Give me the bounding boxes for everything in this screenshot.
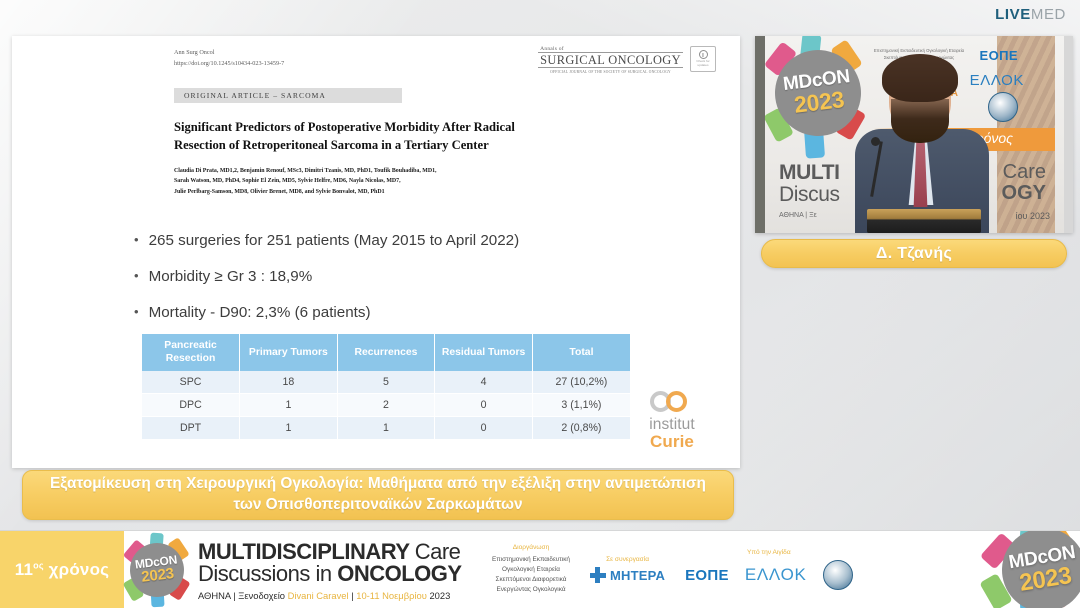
table-cell: 5 bbox=[337, 371, 435, 394]
footer-venue-hotel: Divani Caravel bbox=[288, 590, 349, 601]
sponsor-group-collaboration: Σε συνεργασία ΜΗΤΕΡΑ bbox=[590, 556, 665, 583]
video-letterbox-left bbox=[755, 36, 765, 233]
footer-year-label: 11ος χρόνος bbox=[15, 560, 109, 580]
backdrop-date-text: ίου 2023 bbox=[1016, 211, 1050, 221]
footer-year-number: 11 bbox=[15, 560, 33, 579]
footer-mdcon-logo: MDcON 2023 bbox=[124, 531, 190, 608]
article-type-band: ORIGINAL ARTICLE – SARCOMA bbox=[174, 88, 402, 103]
list-item: • Mortality - D90: 2,3% (6 patients) bbox=[134, 304, 519, 322]
podium bbox=[867, 209, 981, 233]
footer-year-block: 11ος χρόνος bbox=[0, 531, 124, 608]
authors-line-2: Sarah Watson, MD, PhD4, Sophie El Zein, … bbox=[174, 176, 574, 187]
table-row: SPC 18 5 4 27 (10,2%) bbox=[142, 371, 630, 394]
footer-sponsors: Διοργάνωση Επιστημονική Εκπαιδευτική Ογκ… bbox=[480, 531, 930, 608]
curie-rings-icon bbox=[626, 389, 718, 415]
livemed-logo: LIVEMED bbox=[995, 6, 1066, 23]
doi-url: https://doi.org/10.1245/s10434-023-13459… bbox=[174, 59, 284, 70]
eope-logo: ΕΟΠΕ bbox=[685, 567, 729, 584]
sponsor-group-auspices: Υπό την Αιγίδα ΕΟΠΕ ΕΛΛΟΚ bbox=[685, 549, 852, 590]
paper-doi: Ann Surg Oncol https://doi.org/10.1245/s… bbox=[174, 46, 284, 69]
paper-title: Significant Predictors of Postoperative … bbox=[174, 119, 549, 155]
microphone-head-icon bbox=[871, 137, 880, 146]
column-header: Primary Tumors bbox=[240, 334, 338, 371]
paper-header: Ann Surg Oncol https://doi.org/10.1245/s… bbox=[24, 46, 728, 198]
bullet-dot-icon: • bbox=[134, 304, 139, 320]
table-cell: 18 bbox=[240, 371, 338, 394]
slide-bullet-list: • 265 surgeries for 251 patients (May 20… bbox=[134, 232, 519, 323]
footer-title-line-2: Discussions in ONCOLOGY bbox=[198, 563, 480, 586]
footer-title-line-1: MULTIDISCIPLINARY Care bbox=[198, 541, 480, 563]
footer-venue-city: ΑΘΗΝΑ | Ξενοδοχείο bbox=[198, 590, 288, 601]
backdrop-mdcon-year: 2023 bbox=[793, 87, 846, 117]
list-item: • 265 surgeries for 251 patients (May 20… bbox=[134, 232, 519, 250]
column-header: Recurrences bbox=[337, 334, 435, 371]
article-type-label: ORIGINAL ARTICLE – SARCOMA bbox=[184, 91, 326, 100]
bullet-text: Mortality - D90: 2,3% (6 patients) bbox=[149, 304, 371, 322]
footer-venue-year: 2023 bbox=[429, 590, 450, 601]
table-header-row: Pancreatic Resection Primary Tumors Recu… bbox=[142, 334, 630, 371]
table-cell: DPT bbox=[142, 417, 240, 440]
table-cell: 1 bbox=[240, 417, 338, 440]
table-cell: 2 (0,8%) bbox=[532, 417, 630, 440]
footer-badge-year: 2023 bbox=[141, 566, 175, 586]
footer-title-care: Care bbox=[415, 539, 461, 564]
pancreatic-resection-table: Pancreatic Resection Primary Tumors Recu… bbox=[142, 334, 630, 440]
table-cell: 2 bbox=[337, 394, 435, 417]
speaker-name: Δ. Τζανής bbox=[876, 245, 952, 263]
sponsor-group-organizer: Διοργάνωση Επιστημονική Εκπαιδευτική Ογκ… bbox=[492, 544, 570, 595]
speaker-name-plate: Δ. Τζανής bbox=[761, 239, 1067, 268]
column-header: Residual Tumors bbox=[435, 334, 533, 371]
table-row: DPC 1 2 0 3 (1,1%) bbox=[142, 394, 630, 417]
footer-title-multidisciplinary: MULTIDISCIPLINARY bbox=[198, 539, 415, 564]
check-for-updates-icon: Check for updates bbox=[690, 46, 716, 72]
backdrop-care-line1: Care bbox=[1002, 162, 1046, 183]
livemed-live-text: LIVE bbox=[995, 6, 1031, 23]
journal-subtitle: OFFICIAL JOURNAL OF THE SOCIETY OF SURGI… bbox=[538, 70, 683, 74]
list-item: • Morbidity ≥ Gr 3 : 18,9% bbox=[134, 268, 519, 286]
table-cell: 1 bbox=[240, 394, 338, 417]
speaker-video-panel[interactable]: MDcON 2023 Επιστημονική Εκπαιδευτική Ογκ… bbox=[755, 36, 1073, 233]
backdrop-care-line2: OGY bbox=[1002, 183, 1046, 204]
check-updates-label: Check for updates bbox=[691, 60, 715, 67]
journal-masthead: Annals of SURGICAL ONCOLOGY OFFICIAL JOU… bbox=[538, 46, 716, 74]
table-cell: DPC bbox=[142, 394, 240, 417]
mitera-logo: ΜΗΤΕΡΑ bbox=[590, 567, 665, 583]
footer-year-word: χρόνος bbox=[44, 560, 110, 579]
bullet-text: 265 surgeries for 251 patients (May 2015… bbox=[149, 232, 520, 250]
auspices-logo-row: ΕΟΠΕ ΕΛΛΟΚ bbox=[685, 560, 852, 590]
table-cell: 4 bbox=[435, 371, 533, 394]
curie-name-text: Curie bbox=[626, 432, 718, 452]
table-cell: 1 bbox=[337, 417, 435, 440]
curie-ring-orange-icon bbox=[666, 391, 687, 412]
journal-short-name: Ann Surg Oncol bbox=[174, 48, 284, 59]
footer-title-oncology: ONCOLOGY bbox=[337, 561, 461, 586]
video-letterbox-right bbox=[1064, 36, 1073, 233]
elekap-logo-icon bbox=[823, 560, 853, 590]
bullet-dot-icon: • bbox=[134, 268, 139, 284]
sponsor-header-collaboration: Σε συνεργασία bbox=[590, 556, 665, 563]
curie-institut-text: institut bbox=[626, 417, 718, 433]
ellok-logo: ΕΛΛΟΚ bbox=[745, 565, 807, 585]
session-title-banner: Εξατομίκευση στη Χειρουργική Ογκολογία: … bbox=[22, 470, 734, 520]
column-header: Pancreatic Resection bbox=[142, 334, 240, 371]
authors-line-3: Julie Perlbarg-Samson, MD8, Olivier Bren… bbox=[174, 187, 574, 198]
session-title-text: Εξατομίκευση στη Χειρουργική Ογκολογία: … bbox=[41, 474, 715, 516]
footer-year-suffix: ος bbox=[33, 560, 44, 570]
sponsor-header-organizer: Διοργάνωση bbox=[492, 544, 570, 551]
table-cell: 0 bbox=[435, 394, 533, 417]
footer-bar: 11ος χρόνος MDcON 2023 MULTIDISCIPLINARY… bbox=[0, 530, 1080, 608]
update-ring-icon bbox=[699, 50, 708, 59]
footer-title-discussions: Discussions in bbox=[198, 561, 337, 586]
table-cell: 27 (10,2%) bbox=[532, 371, 630, 394]
table-cell: 3 (1,1%) bbox=[532, 394, 630, 417]
speaker-hair bbox=[882, 54, 958, 102]
table-cell: 0 bbox=[435, 417, 533, 440]
footer-venue-line: ΑΘΗΝΑ | Ξενοδοχείο Divani Caravel | 10-1… bbox=[198, 590, 480, 601]
sponsor-header-auspices: Υπό την Αιγίδα bbox=[685, 549, 852, 556]
sponsor-organizer-body: Επιστημονική Εκπαιδευτική Ογκολογική Ετα… bbox=[492, 555, 570, 595]
footer-venue-dates: 10-11 Νοεμβρίου bbox=[356, 590, 429, 601]
footer-large-badge-area: MDcON 2023 bbox=[930, 531, 1080, 608]
column-header: Total bbox=[532, 334, 630, 371]
mitera-label: ΜΗΤΕΡΑ bbox=[610, 568, 665, 583]
bullet-text: Morbidity ≥ Gr 3 : 18,9% bbox=[149, 268, 313, 286]
footer-congress-title: MULTIDISCIPLINARY Care Discussions in ON… bbox=[190, 531, 480, 608]
institut-curie-logo: institut Curie bbox=[626, 389, 718, 452]
backdrop-care-text: Care OGY bbox=[1002, 162, 1046, 204]
table-cell: SPC bbox=[142, 371, 240, 394]
paper-authors: Claudia Di Prata, MD1,2, Benjamin Renouf… bbox=[174, 166, 574, 199]
livemed-med-text: MED bbox=[1031, 6, 1066, 23]
medical-cross-icon bbox=[590, 567, 606, 583]
authors-line-1: Claudia Di Prata, MD1,2, Benjamin Renouf… bbox=[174, 166, 574, 177]
journal-title: SURGICAL ONCOLOGY bbox=[538, 52, 683, 68]
bullet-dot-icon: • bbox=[134, 232, 139, 248]
presentation-slide[interactable]: Ann Surg Oncol https://doi.org/10.1245/s… bbox=[12, 36, 740, 468]
speaker-beard bbox=[891, 99, 949, 143]
table-row: DPT 1 1 0 2 (0,8%) bbox=[142, 417, 630, 440]
speaker-figure bbox=[851, 55, 993, 233]
